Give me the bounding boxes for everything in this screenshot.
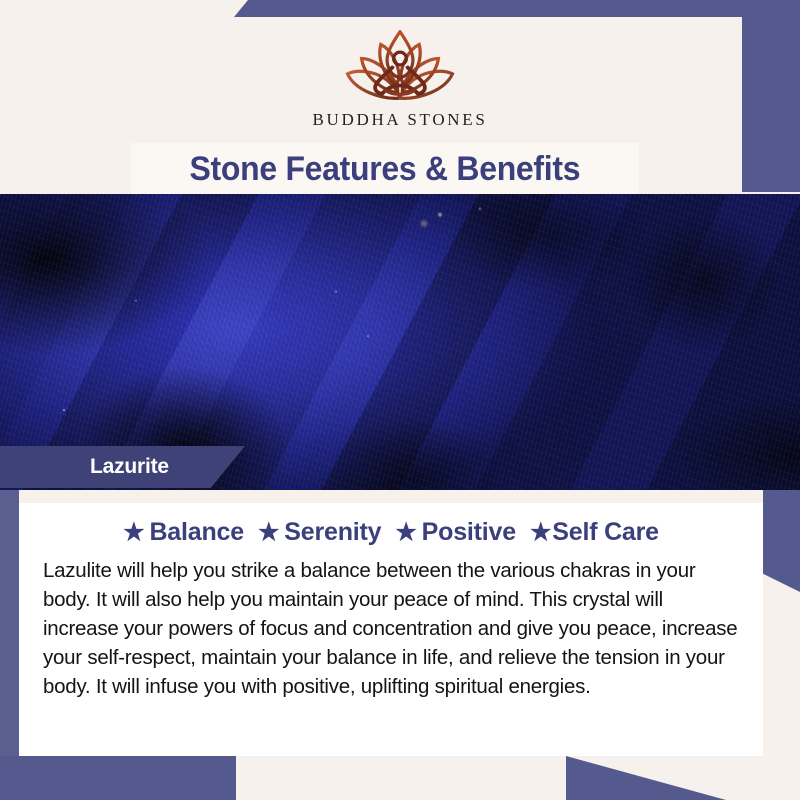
lotus-meditating-figure-icon (336, 20, 464, 106)
poster-canvas: BUDDHA STONES Stone Features & Benefits … (0, 0, 800, 800)
star-icon: ★ (123, 521, 144, 545)
accent-rail-left (0, 488, 19, 758)
star-icon: ★ (395, 521, 416, 545)
accent-bar-bottom-left (0, 756, 236, 800)
keyword-label: Self Care (552, 518, 659, 547)
keyword-label: Balance (149, 518, 244, 547)
keyword-row: ★ Balance ★ Serenity ★ Positive ★ Self C… (37, 518, 745, 547)
keyword-self-care: ★ Self Care (530, 518, 659, 547)
lazurite-stone-photo (0, 194, 800, 490)
keyword-label: Serenity (284, 518, 381, 547)
stone-name-tag: Lazurite (0, 446, 245, 488)
keyword-balance: ★ Balance (123, 518, 244, 547)
brand-header: BUDDHA STONES (0, 0, 800, 150)
stone-name-label: Lazurite (90, 455, 169, 479)
star-icon: ★ (530, 521, 551, 545)
stone-speck-layer (0, 194, 800, 490)
keyword-serenity: ★ Serenity (258, 518, 381, 547)
benefits-description: Lazulite will help you strike a balance … (37, 557, 745, 701)
accent-strip-bottom-center (236, 756, 566, 800)
card-top-glow (19, 490, 763, 503)
brand-wordmark: BUDDHA STONES (312, 110, 487, 130)
star-icon: ★ (258, 521, 279, 545)
keyword-positive: ★ Positive (395, 518, 516, 547)
accent-wedge-bottom-right (566, 756, 726, 800)
benefits-card: ★ Balance ★ Serenity ★ Positive ★ Self C… (19, 490, 763, 756)
title-band: Stone Features & Benefits (131, 143, 639, 195)
keyword-label: Positive (422, 518, 516, 547)
page-title: Stone Features & Benefits (190, 150, 581, 189)
